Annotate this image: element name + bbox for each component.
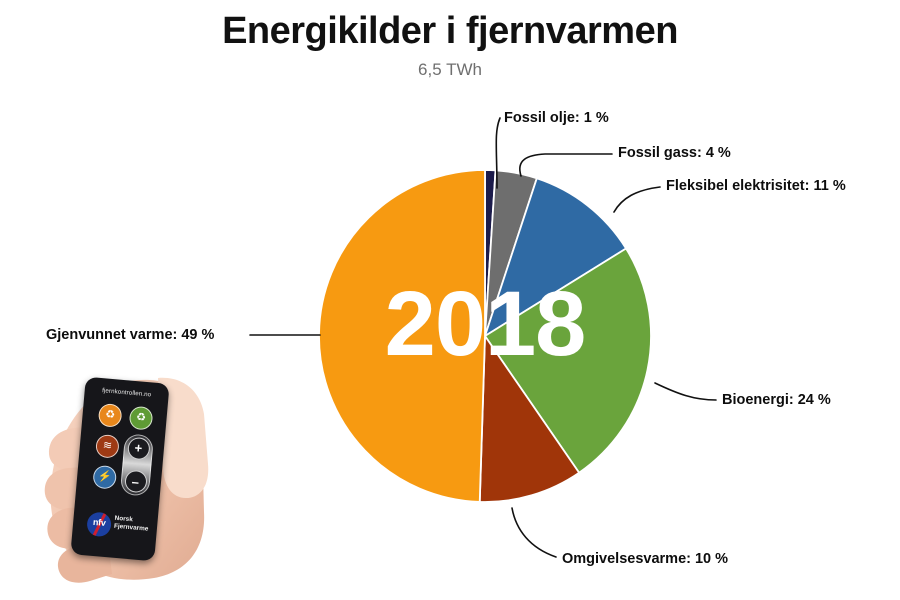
pie-slice-fossil-olje[interactable] — [485, 170, 496, 336]
pie-slice-fossil-gass[interactable] — [485, 170, 537, 336]
page-title: Energikilder i fjernvarmen — [0, 10, 900, 53]
nfv-wordmark: NorskFjernvarme — [114, 515, 150, 534]
page-subtitle: 6,5 TWh — [0, 60, 900, 80]
pie-center-year-label: 2018 — [320, 278, 650, 370]
slice-label-omgivelsesvarme: Omgivelsesvarme: 10 % — [562, 551, 728, 567]
lightning-bolt-icon[interactable]: ⚡ — [92, 465, 117, 490]
leader-line-fleksibel-elektrisitet — [614, 187, 660, 212]
leader-line-fossil-olje — [496, 118, 500, 188]
leader-line-fossil-gass — [520, 154, 612, 176]
recycle-orange-icon[interactable]: ♻ — [98, 403, 123, 428]
remote-control-body[interactable]: fjernkontrollen.no ♻ ♻ ≋ ⚡ + – nfv Norsk… — [70, 377, 169, 562]
plus-minus-rocker[interactable]: + – — [120, 433, 154, 496]
slice-label-fossil-gass: Fossil gass: 4 % — [618, 145, 731, 161]
slice-label-fossil-olje: Fossil olje: 1 % — [504, 110, 609, 126]
heat-waves-icon[interactable]: ≋ — [95, 434, 120, 459]
remote-control-photo: fjernkontrollen.no ♻ ♻ ≋ ⚡ + – nfv Norsk… — [22, 372, 250, 600]
pie-slice-group — [319, 170, 651, 502]
nfv-logo: nfv — [86, 511, 112, 537]
slice-label-gjenvunnet-varme: Gjenvunnet varme: 49 % — [46, 327, 214, 343]
pie-slice-omgivelsesvarme[interactable] — [480, 336, 579, 502]
leader-line-bioenergi — [655, 383, 716, 400]
plus-icon[interactable]: + — [126, 436, 150, 460]
pie-slice-fleksibel-elektrisitet[interactable] — [485, 178, 626, 336]
nfv-logo-text: nfv — [87, 517, 112, 528]
slice-label-bioenergi: Bioenergi: 24 % — [722, 392, 831, 408]
remote-url-text: fjernkontrollen.no — [85, 386, 169, 400]
leader-line-group — [250, 118, 716, 557]
minus-icon[interactable]: – — [124, 469, 148, 493]
pie-slice-bioenergi[interactable] — [485, 248, 651, 472]
infographic-page: Energikilder i fjernvarmen 6,5 TWh 2018 … — [0, 0, 900, 600]
pie-slice-gjenvunnet-varme[interactable] — [319, 170, 485, 502]
slice-label-fleksibel-elektrisitet: Fleksibel elektrisitet: 11 % — [666, 178, 846, 194]
leader-line-omgivelsesvarme — [512, 508, 556, 557]
recycle-green-icon[interactable]: ♻ — [129, 406, 154, 431]
